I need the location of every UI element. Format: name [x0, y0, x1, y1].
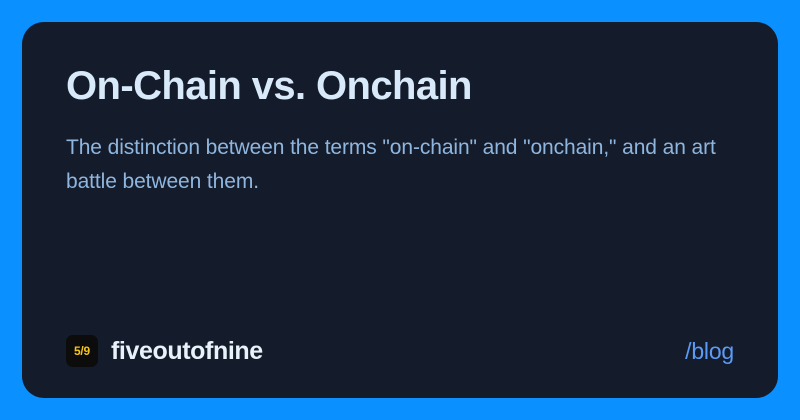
card-footer: 5/9 fiveoutofnine /blog — [66, 334, 734, 368]
brand-block[interactable]: 5/9 fiveoutofnine — [66, 335, 263, 367]
content-spacer — [66, 199, 734, 334]
page-title: On-Chain vs. Onchain — [66, 64, 734, 109]
brand-name-label: fiveoutofnine — [111, 339, 263, 364]
blog-link[interactable]: /blog — [685, 340, 734, 363]
logo-badge-icon: 5/9 — [66, 335, 98, 367]
og-image-canvas: On-Chain vs. Onchain The distinction bet… — [0, 0, 800, 420]
og-card: On-Chain vs. Onchain The distinction bet… — [22, 22, 778, 398]
logo-badge-label: 5/9 — [74, 345, 90, 357]
page-subtitle: The distinction between the terms "on-ch… — [66, 131, 726, 199]
